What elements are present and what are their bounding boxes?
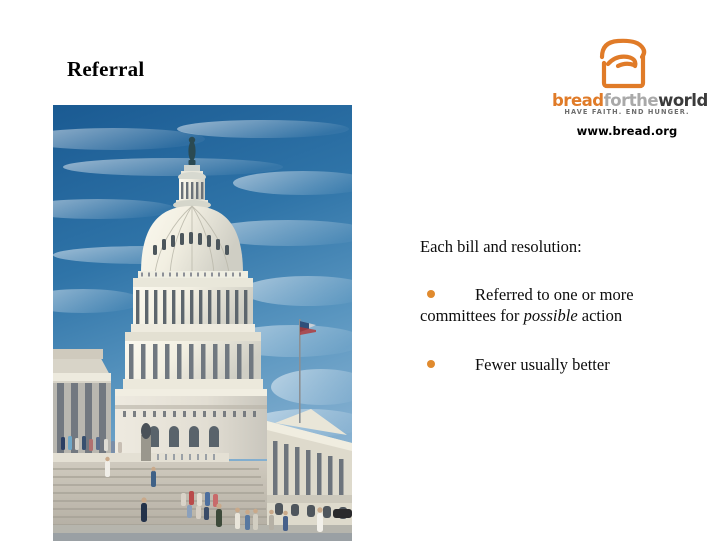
bullet-dot-icon bbox=[427, 360, 435, 368]
list-item-emphasis: possible bbox=[524, 306, 578, 325]
us-capitol-building-photo bbox=[53, 105, 352, 541]
body-lead-line: Each bill and resolution: bbox=[420, 236, 688, 257]
page-title: Referral bbox=[67, 56, 144, 82]
list-item-text: Referred to one or more committees for p… bbox=[420, 285, 634, 325]
list-item-text-part2: action bbox=[578, 306, 622, 325]
organization-website-url: www.bread.org bbox=[552, 124, 702, 138]
list-item-text: Fewer usually better bbox=[475, 355, 610, 374]
bullet-dot-icon bbox=[427, 290, 435, 298]
logo-tagline: HAVE FAITH. END HUNGER. bbox=[552, 108, 702, 117]
list-item: Fewer usually better bbox=[420, 354, 688, 375]
slide-body-content: Each bill and resolution: Referred to on… bbox=[420, 236, 688, 375]
list-item: Referred to one or more committees for p… bbox=[420, 284, 688, 326]
list-item-text-part1: Fewer usually better bbox=[475, 355, 610, 374]
bread-loaf-icon bbox=[590, 33, 656, 91]
bread-for-the-world-logo: breadfortheworld HAVE FAITH. END HUNGER.… bbox=[552, 33, 702, 145]
